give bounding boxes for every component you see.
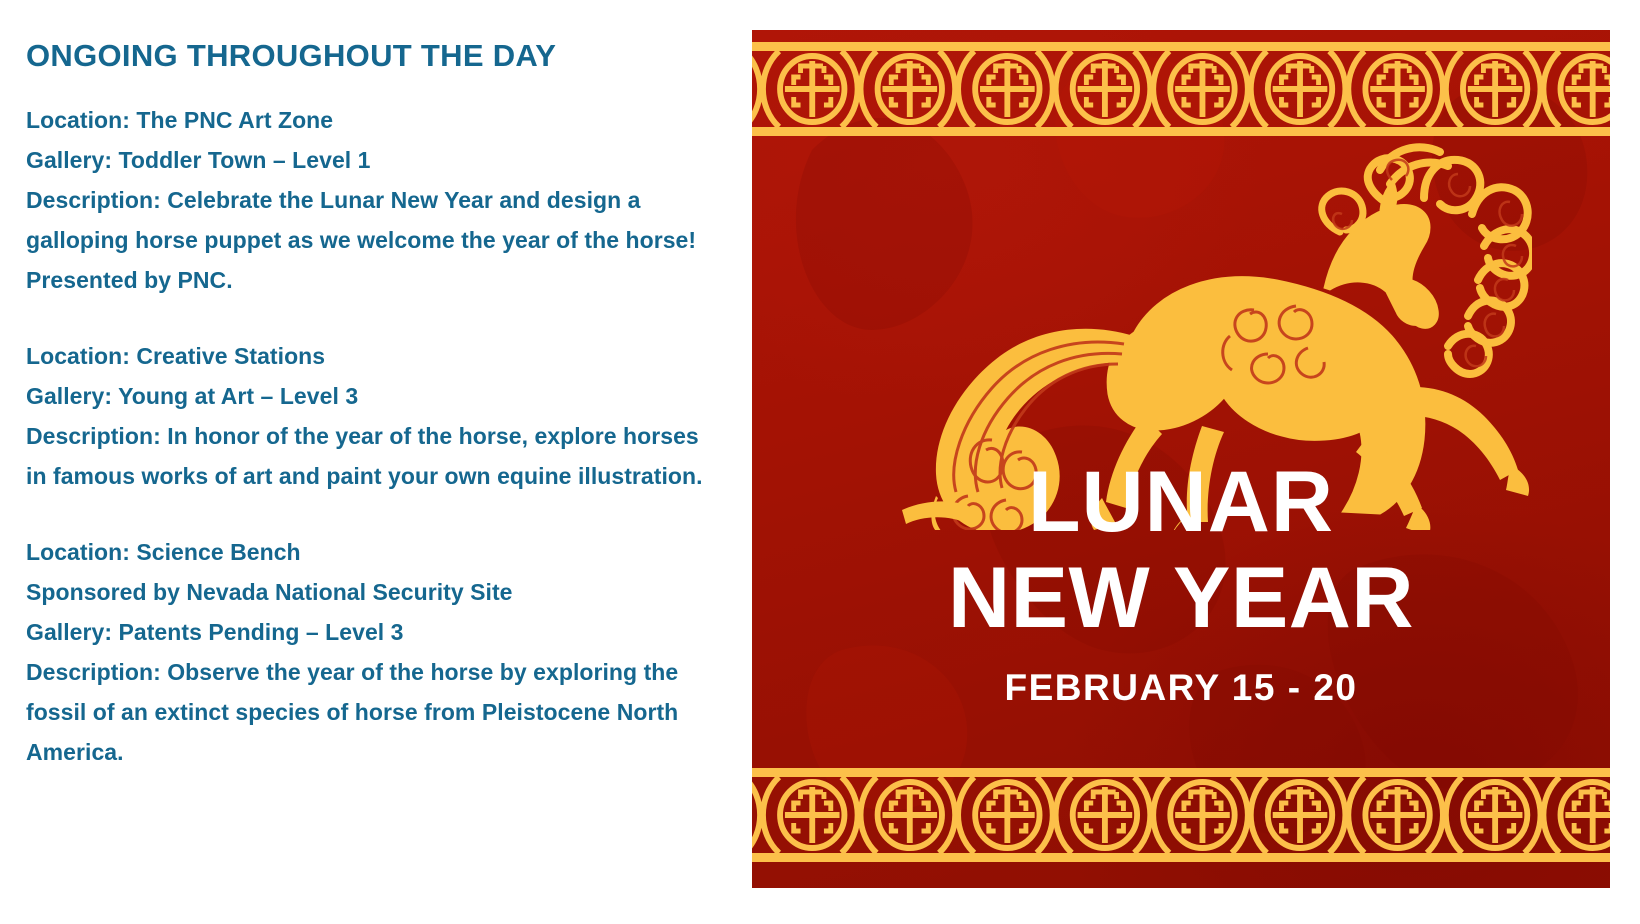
page-title: ONGOING THROUGHOUT THE DAY: [26, 38, 716, 74]
event-entry: Location: The PNC Art Zone Gallery: Todd…: [26, 100, 716, 300]
event-sponsor: Sponsored by Nevada National Security Si…: [26, 572, 716, 612]
event-info-column: ONGOING THROUGHOUT THE DAY Location: The…: [26, 38, 716, 898]
lunar-new-year-poster: LUNAR NEW YEAR FEBRUARY 15 - 20: [752, 30, 1610, 888]
shou-medallion-icon: [752, 51, 1610, 127]
event-presenter: Presented by PNC.: [26, 260, 716, 300]
bottom-decorative-border: [752, 768, 1610, 862]
event-gallery: Gallery: Patents Pending – Level 3: [26, 612, 716, 652]
event-description: Description: Celebrate the Lunar New Yea…: [26, 180, 716, 260]
border-rule-top: [752, 42, 1610, 51]
poster-date-range: FEBRUARY 15 - 20: [752, 667, 1610, 709]
event-location: Location: Science Bench: [26, 532, 716, 572]
event-entry: Location: Creative Stations Gallery: You…: [26, 336, 716, 496]
event-description: Description: Observe the year of the hor…: [26, 652, 716, 772]
poster-text-block: LUNAR NEW YEAR FEBRUARY 15 - 20: [752, 460, 1610, 709]
event-gallery: Gallery: Toddler Town – Level 1: [26, 140, 716, 180]
poster-page: ONGOING THROUGHOUT THE DAY Location: The…: [0, 0, 1640, 924]
top-decorative-border: [752, 42, 1610, 136]
border-rule-bottom: [752, 853, 1610, 862]
shou-medallion-icon: [752, 777, 1610, 853]
event-entry: Location: Science Bench Sponsored by Nev…: [26, 532, 716, 772]
border-rule-top: [752, 768, 1610, 777]
event-description: Description: In honor of the year of the…: [26, 416, 716, 496]
poster-title-lunar: LUNAR: [752, 460, 1610, 544]
border-motif-strip: [752, 51, 1610, 127]
border-motif-strip: [752, 777, 1610, 853]
border-rule-bottom: [752, 127, 1610, 136]
poster-title-new-year: NEW YEAR: [752, 556, 1610, 640]
event-location: Location: The PNC Art Zone: [26, 100, 716, 140]
event-gallery: Gallery: Young at Art – Level 3: [26, 376, 716, 416]
event-location: Location: Creative Stations: [26, 336, 716, 376]
